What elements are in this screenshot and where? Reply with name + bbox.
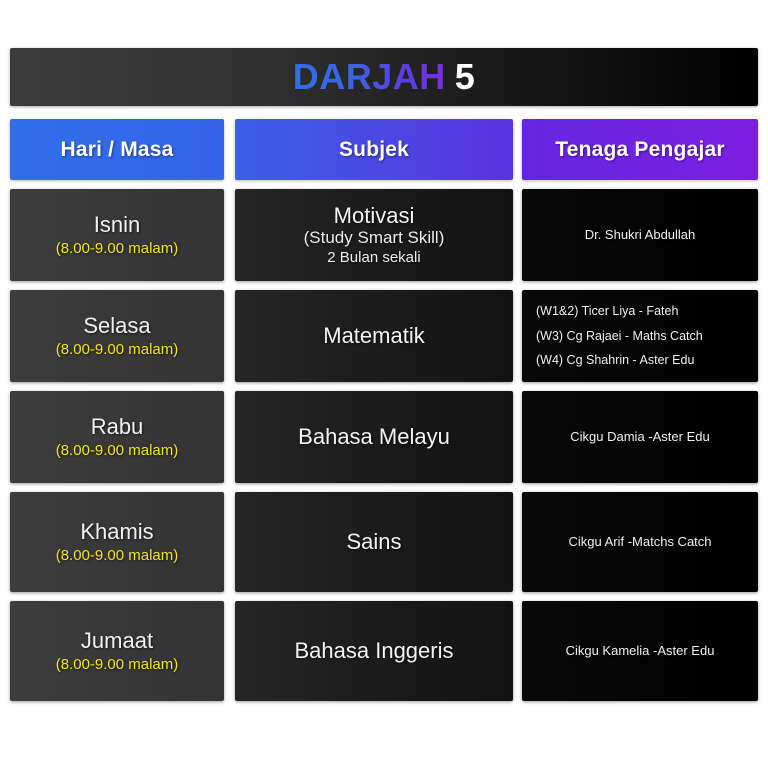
title-word: DARJAH — [293, 56, 446, 97]
row-teacher-cell: Dr. Shukri Abdullah — [522, 189, 758, 281]
day-name: Khamis — [80, 519, 153, 544]
row-teacher-cell: Cikgu Damia -Aster Edu — [522, 391, 758, 483]
teacher-line: Cikgu Damia -Aster Edu — [570, 430, 709, 444]
teacher-line: (W4) Cg Shahrin - Aster Edu — [536, 348, 694, 372]
row-subject-cell: Motivasi (Study Smart Skill) 2 Bulan sek… — [235, 189, 513, 281]
row-subject-cell: Bahasa Inggeris — [235, 601, 513, 701]
header-cell-teacher: Tenaga Pengajar — [522, 119, 758, 180]
schedule-table: Hari / Masa Subjek Tenaga Pengajar Isnin… — [10, 119, 758, 710]
teacher-line: (W1&2) Ticer Liya - Fateh — [536, 299, 678, 323]
table-row: Rabu (8.00-9.00 malam) Bahasa Melayu Cik… — [10, 391, 758, 483]
header-label-subject: Subjek — [339, 138, 409, 162]
teacher-line: Cikgu Kamelia -Aster Edu — [566, 644, 715, 658]
row-teacher-cell: Cikgu Kamelia -Aster Edu — [522, 601, 758, 701]
row-day-cell: Jumaat (8.00-9.00 malam) — [10, 601, 224, 701]
day-time: (8.00-9.00 malam) — [56, 656, 179, 674]
day-name: Jumaat — [81, 628, 153, 653]
subject-name: Sains — [346, 529, 401, 555]
day-name: Rabu — [91, 414, 144, 439]
header-cell-day: Hari / Masa — [10, 119, 224, 180]
title-number: 5 — [455, 56, 476, 97]
table-row: Isnin (8.00-9.00 malam) Motivasi (Study … — [10, 189, 758, 281]
table-row: Selasa (8.00-9.00 malam) Matematik (W1&2… — [10, 290, 758, 382]
teacher-line: Cikgu Arif -Matchs Catch — [568, 535, 711, 549]
teacher-line: (W3) Cg Rajaei - Maths Catch — [536, 324, 703, 348]
timetable-slide: DARJAH5 Hari / Masa Subjek Tenaga Pengaj… — [0, 0, 768, 768]
row-day-cell: Khamis (8.00-9.00 malam) — [10, 492, 224, 592]
day-time: (8.00-9.00 malam) — [56, 240, 179, 258]
subject-note: 2 Bulan sekali — [327, 249, 420, 268]
row-teacher-cell: (W1&2) Ticer Liya - Fateh (W3) Cg Rajaei… — [522, 290, 758, 382]
subject-name: Bahasa Inggeris — [295, 638, 454, 664]
row-teacher-cell: Cikgu Arif -Matchs Catch — [522, 492, 758, 592]
day-time: (8.00-9.00 malam) — [56, 442, 179, 460]
teacher-line: Dr. Shukri Abdullah — [585, 228, 696, 242]
table-row: Jumaat (8.00-9.00 malam) Bahasa Inggeris… — [10, 601, 758, 701]
row-subject-cell: Bahasa Melayu — [235, 391, 513, 483]
header-label-teacher: Tenaga Pengajar — [555, 138, 725, 162]
slide-title-bar: DARJAH5 — [10, 48, 758, 106]
table-header-row: Hari / Masa Subjek Tenaga Pengajar — [10, 119, 758, 180]
row-day-cell: Isnin (8.00-9.00 malam) — [10, 189, 224, 281]
row-subject-cell: Sains — [235, 492, 513, 592]
subject-name: Motivasi — [334, 203, 415, 229]
row-day-cell: Rabu (8.00-9.00 malam) — [10, 391, 224, 483]
row-day-cell: Selasa (8.00-9.00 malam) — [10, 290, 224, 382]
subject-name: Bahasa Melayu — [298, 424, 450, 450]
day-name: Selasa — [83, 313, 150, 338]
subject-subtitle: (Study Smart Skill) — [304, 228, 445, 248]
day-time: (8.00-9.00 malam) — [56, 547, 179, 565]
page-title: DARJAH5 — [293, 59, 476, 95]
header-label-day: Hari / Masa — [60, 138, 173, 162]
subject-name: Matematik — [323, 323, 424, 349]
day-name: Isnin — [94, 212, 140, 237]
table-row: Khamis (8.00-9.00 malam) Sains Cikgu Ari… — [10, 492, 758, 592]
row-subject-cell: Matematik — [235, 290, 513, 382]
day-time: (8.00-9.00 malam) — [56, 341, 179, 359]
header-cell-subject: Subjek — [235, 119, 513, 180]
